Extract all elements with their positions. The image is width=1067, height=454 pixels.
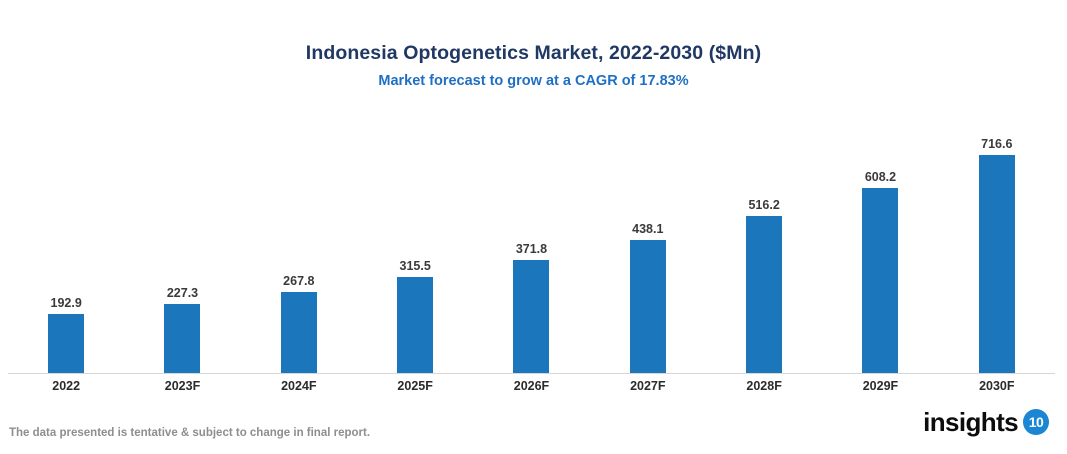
bar-slot: 438.1: [590, 110, 706, 373]
bar-slot: 608.2: [822, 110, 938, 373]
bar-slot: 716.6: [939, 110, 1055, 373]
x-tick-label: 2024F: [241, 378, 357, 394]
bar-value-label: 192.9: [8, 296, 124, 311]
x-tick-label: 2023F: [124, 378, 240, 394]
bar[interactable]: [48, 314, 84, 373]
disclaimer-note: The data presented is tentative & subjec…: [9, 427, 370, 439]
logo-wordmark: insights: [923, 408, 1018, 436]
title-block: Indonesia Optogenetics Market, 2022-2030…: [0, 40, 1067, 92]
bar[interactable]: [979, 155, 1015, 373]
chart-figure: Indonesia Optogenetics Market, 2022-2030…: [0, 0, 1067, 454]
bar-value-label: 608.2: [822, 170, 938, 185]
bar-slot: 315.5: [357, 110, 473, 373]
x-axis-line: [8, 373, 1055, 374]
x-tick-label: 2022: [8, 378, 124, 394]
bar[interactable]: [630, 240, 666, 373]
bar-value-label: 716.6: [939, 137, 1055, 152]
x-tick-label: 2028F: [706, 378, 822, 394]
bar-slot: 192.9: [8, 110, 124, 373]
logo-badge-icon: 10: [1023, 409, 1049, 435]
bar-value-label: 516.2: [706, 198, 822, 213]
bar-slot: 267.8: [241, 110, 357, 373]
bar[interactable]: [862, 188, 898, 373]
x-tick-label: 2029F: [822, 378, 938, 394]
bar-slot: 371.8: [473, 110, 589, 373]
chart-subtitle: Market forecast to grow at a CAGR of 17.…: [0, 70, 1067, 92]
insights10-logo: insights 10: [923, 408, 1049, 436]
bar-value-label: 438.1: [590, 222, 706, 237]
x-tick-label: 2025F: [357, 378, 473, 394]
bar[interactable]: [164, 304, 200, 373]
bar-value-label: 315.5: [357, 259, 473, 274]
bar-slot: 227.3: [124, 110, 240, 373]
plot-area: 192.9 227.3 267.8 315.5 371.8 438.1: [8, 110, 1055, 374]
bar-value-label: 371.8: [473, 242, 589, 257]
bar[interactable]: [746, 216, 782, 373]
bar-value-label: 267.8: [241, 274, 357, 289]
bar-slot: 516.2: [706, 110, 822, 373]
bar[interactable]: [281, 292, 317, 373]
x-tick-label: 2026F: [473, 378, 589, 394]
bar-series: 192.9 227.3 267.8 315.5 371.8 438.1: [8, 110, 1055, 373]
bar[interactable]: [513, 260, 549, 373]
x-tick-label: 2030F: [939, 378, 1055, 394]
bar-value-label: 227.3: [124, 286, 240, 301]
x-axis-tick-labels: 2022 2023F 2024F 2025F 2026F 2027F 2028F…: [8, 378, 1055, 394]
x-tick-label: 2027F: [590, 378, 706, 394]
bar[interactable]: [397, 277, 433, 373]
chart-title: Indonesia Optogenetics Market, 2022-2030…: [0, 40, 1067, 66]
